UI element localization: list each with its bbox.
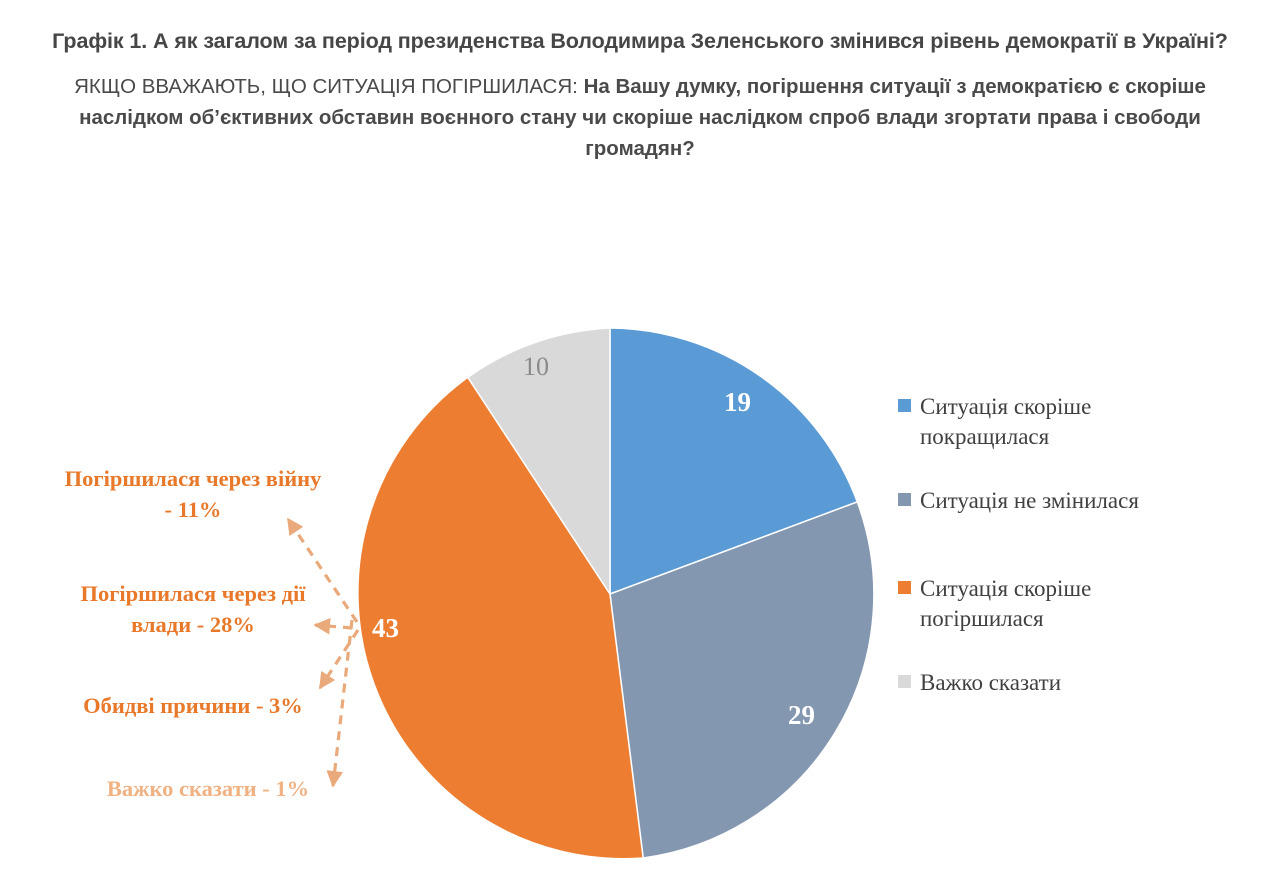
- chart-legend: Ситуація скоріше покращилася Ситуація не…: [898, 392, 1208, 724]
- annotation-worsened-due-to-authorities: Погіршилася через дії влади - 28%: [63, 578, 323, 640]
- legend-swatch-icon: [898, 675, 911, 688]
- legend-swatch-icon: [898, 399, 911, 412]
- legend-swatch-icon: [898, 581, 911, 594]
- legend-swatch-icon: [898, 493, 911, 506]
- annotation-both-reasons: Обидві причини - 3%: [63, 690, 323, 721]
- slice-value-hard-to-say: 10: [523, 352, 549, 382]
- slice-value-situation-unchanged: 29: [788, 700, 815, 731]
- annotation-worsened-due-to-war: Погіршилася через війну - 11%: [63, 463, 323, 525]
- annotation-hard-to-say: Важко сказати - 1%: [78, 773, 338, 804]
- connector-both-reasons: [320, 630, 358, 688]
- annotation-connectors: [288, 519, 358, 786]
- pie-chart: 19 29 43 10 Погіршилася через війну - 11…: [0, 0, 1280, 895]
- legend-item-hard-to-say[interactable]: Важко сказати: [898, 668, 1208, 698]
- legend-label: Ситуація скоріше погіршилася: [920, 574, 1208, 634]
- legend-item-situation-unchanged[interactable]: Ситуація не змінилася: [898, 486, 1208, 516]
- legend-label: Важко сказати: [920, 668, 1061, 698]
- slice-value-situation-worsened: 43: [372, 613, 399, 644]
- slice-value-situation-improved: 19: [724, 387, 751, 418]
- legend-item-situation-worsened[interactable]: Ситуація скоріше погіршилася: [898, 574, 1208, 634]
- legend-label: Ситуація не змінилася: [920, 486, 1139, 516]
- legend-item-situation-improved[interactable]: Ситуація скоріше покращилася: [898, 392, 1208, 452]
- legend-label: Ситуація скоріше покращилася: [920, 392, 1208, 452]
